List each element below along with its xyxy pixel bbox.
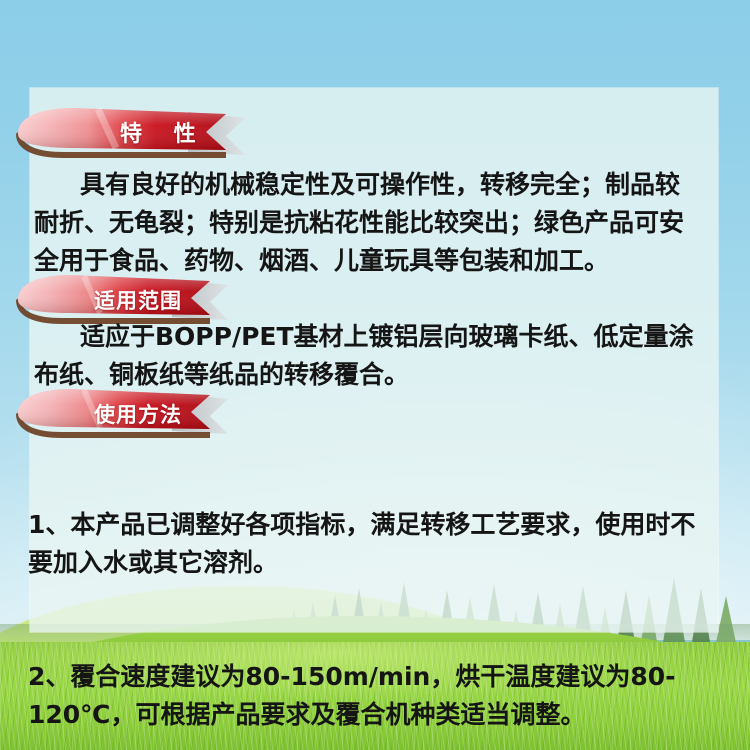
ribbon-band-shading [18,389,210,429]
poster-canvas: 特 性 具有良好的机械稳定性及可操作性，转移完全；制品较耐折、无龟裂；特别是抗粘… [0,0,750,750]
list-item: 2、覆合速度建议为80-150m/min，烘干温度建议为80-120℃，可根据产… [28,658,704,734]
features-paragraph: 具有良好的机械稳定性及可操作性，转移完全；制品较耐折、无龟裂；特别是抗粘花性能比… [34,166,694,280]
ribbon-band-shading [18,275,210,315]
ribbon-band-shading [18,108,226,150]
section-ribbon-features: 特 性 [12,100,262,164]
usage-instructions-list: 1、本产品已调整好各项指标，满足转移工艺要求，使用时不要加入水或其它溶剂。 2、… [28,430,704,750]
list-item: 1、本产品已调整好各项指标，满足转移工艺要求，使用时不要加入水或其它溶剂。 [28,506,704,582]
